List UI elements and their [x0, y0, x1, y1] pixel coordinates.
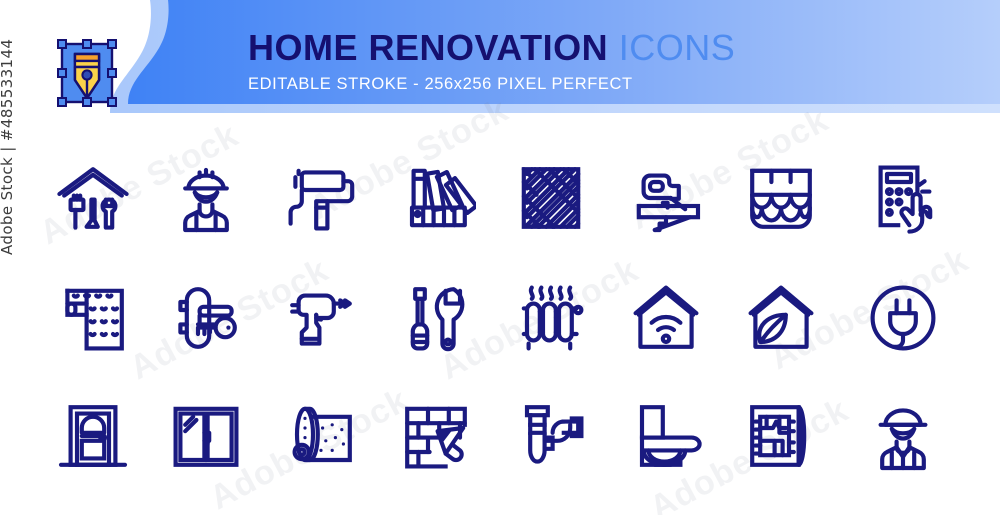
carpet-roll-icon[interactable] — [263, 378, 378, 493]
title-main: HOME RENOVATION — [248, 27, 608, 68]
door-handle-key-icon[interactable] — [148, 260, 263, 375]
construction-worker-icon[interactable] — [148, 140, 263, 255]
icon-sheet-canvas: HOME RENOVATION ICONS EDITABLE STROKE - … — [0, 0, 1000, 515]
brick-wall-trowel-icon[interactable] — [378, 378, 493, 493]
icon-grid — [0, 120, 1000, 515]
window-icon[interactable] — [148, 378, 263, 493]
eco-house-leaf-icon[interactable] — [723, 260, 838, 375]
paint-roller-icon[interactable] — [263, 140, 378, 255]
circular-saw-wood-icon[interactable] — [608, 140, 723, 255]
roof-tiles-icon[interactable] — [723, 140, 838, 255]
electric-plug-icon[interactable] — [845, 260, 960, 375]
screwdriver-wrench-icon[interactable] — [378, 260, 493, 375]
color-palette-fan-icon[interactable] — [378, 140, 493, 255]
blueprint-plan-icon[interactable] — [723, 378, 838, 493]
architect-icon[interactable] — [845, 378, 960, 493]
home-repair-tools-icon[interactable] — [35, 140, 150, 255]
calculator-hand-icon[interactable] — [845, 140, 960, 255]
page-subtitle: EDITABLE STROKE - 256x256 PIXEL PERFECT — [248, 75, 735, 94]
header-banner: HOME RENOVATION ICONS EDITABLE STROKE - … — [0, 0, 1000, 120]
radiator-heating-icon[interactable] — [493, 260, 608, 375]
pen-nib-tool-logo — [53, 37, 121, 109]
title-light: ICONS — [619, 27, 736, 68]
header-text-block: HOME RENOVATION ICONS EDITABLE STROKE - … — [248, 30, 735, 94]
toilet-icon[interactable] — [608, 378, 723, 493]
smart-home-wifi-icon[interactable] — [608, 260, 723, 375]
page-title: HOME RENOVATION ICONS — [248, 30, 735, 66]
parquet-flooring-icon[interactable] — [493, 140, 608, 255]
power-drill-icon[interactable] — [263, 260, 378, 375]
wallpaper-roll-icon[interactable] — [35, 260, 150, 375]
plumbing-pipe-icon[interactable] — [493, 378, 608, 493]
door-icon[interactable] — [35, 378, 150, 493]
